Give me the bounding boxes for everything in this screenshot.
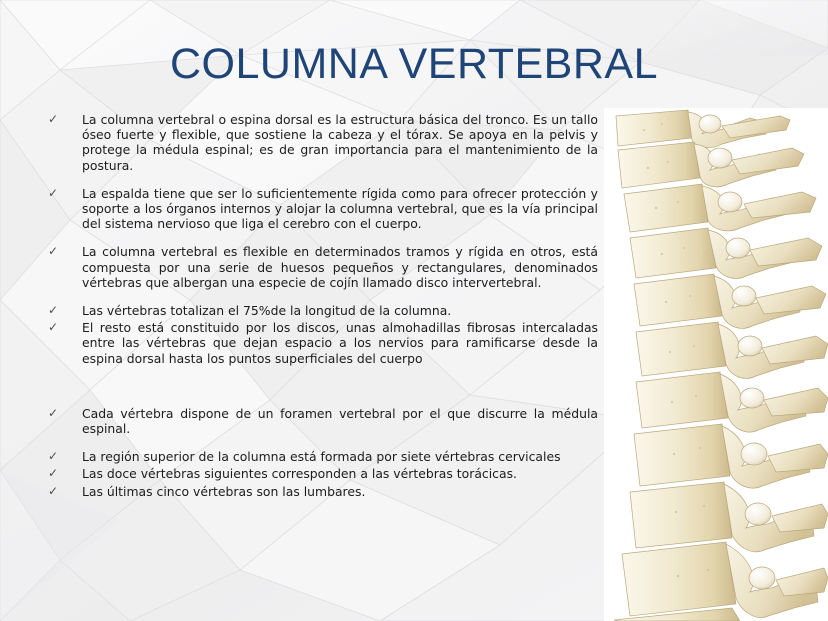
list-item-text: La región superior de la columna está fo…	[82, 449, 561, 464]
list-item-text: La espalda tiene que ser lo suficienteme…	[82, 186, 598, 231]
list-item-text: Las doce vértebras siguientes correspond…	[82, 466, 517, 481]
list-item-text: La columna vertebral es flexible en dete…	[82, 244, 598, 289]
checkmark-icon: ✓	[48, 406, 64, 421]
list-item: ✓ La columna vertebral o espina dorsal e…	[0, 112, 604, 173]
list-item-text: Las últimas cinco vértebras son las lumb…	[82, 484, 365, 499]
checkmark-icon: ✓	[48, 484, 64, 499]
checkmark-icon: ✓	[48, 186, 64, 201]
title-band: COLUMNA VERTEBRAL	[0, 34, 828, 96]
spacer	[0, 436, 604, 449]
spine-image-panel	[604, 108, 828, 621]
list-item: ✓ Las vértebras totalizan el 75%de la lo…	[0, 303, 604, 318]
list-item: ✓ La columna vertebral es flexible en de…	[0, 244, 604, 290]
list-item: ✓ Las doce vértebras siguientes correspo…	[0, 466, 604, 481]
spacer	[0, 366, 604, 406]
page-title: COLUMNA VERTEBRAL	[0, 34, 828, 94]
list-item: ✓ La espalda tiene que ser lo suficiente…	[0, 186, 604, 232]
list-item: ✓ La región superior de la columna está …	[0, 449, 604, 464]
checkmark-icon: ✓	[48, 320, 64, 335]
presentation-slide: COLUMNA VERTEBRAL ✓ La columna vertebral…	[0, 0, 828, 621]
checkmark-icon: ✓	[48, 449, 64, 464]
checkmark-icon: ✓	[48, 466, 64, 481]
list-item: ✓ Cada vértebra dispone de un foramen ve…	[0, 406, 604, 436]
list-item-text: El resto está constituido por los discos…	[82, 320, 598, 365]
spacer	[0, 173, 604, 186]
list-item: ✓ El resto está constituido por los disc…	[0, 320, 604, 366]
spacer	[0, 290, 604, 303]
list-item: ✓ Las últimas cinco vértebras son las lu…	[0, 484, 604, 499]
list-item-text: La columna vertebral o espina dorsal es …	[82, 112, 598, 173]
slide-body-text: ✓ La columna vertebral o espina dorsal e…	[0, 112, 604, 621]
spine-vertebrae-illustration	[604, 108, 828, 621]
checkmark-icon: ✓	[48, 303, 64, 318]
checkmark-icon: ✓	[48, 244, 64, 259]
list-item-text: Cada vértebra dispone de un foramen vert…	[82, 406, 598, 436]
spacer	[0, 231, 604, 244]
checkmark-icon: ✓	[48, 112, 64, 127]
list-item-text: Las vértebras totalizan el 75%de la long…	[82, 303, 451, 318]
